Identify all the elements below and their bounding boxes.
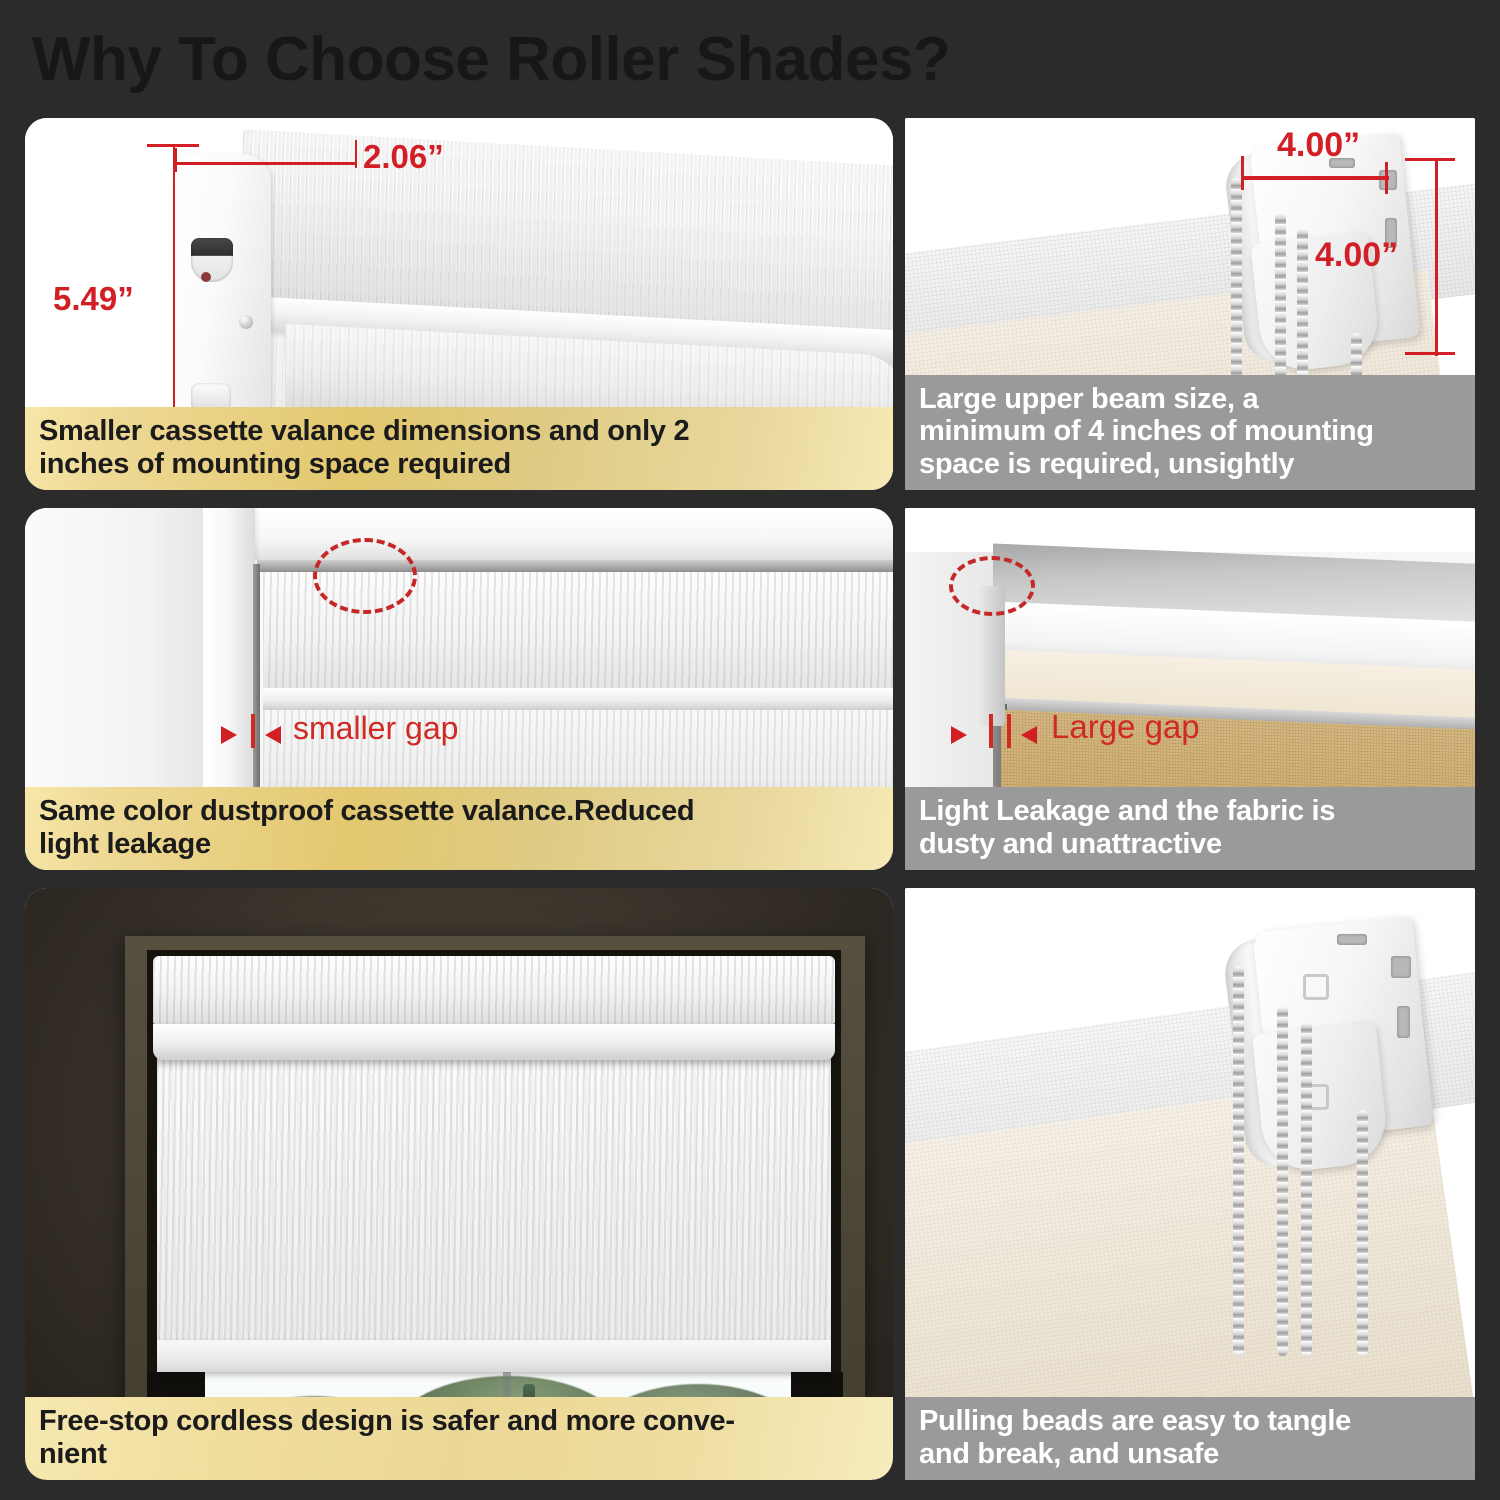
caption-line: nient xyxy=(39,1438,879,1470)
caption-line: Large upper beam size, a xyxy=(919,383,1461,415)
bead-chain xyxy=(1301,1022,1312,1356)
highlight-circle-icon xyxy=(949,556,1035,616)
panel-large-beam: 4.00” 4.00” Large upper beam size, a min… xyxy=(905,118,1475,490)
beam-width-tick-right xyxy=(1385,162,1388,194)
caption-line: minimum of 4 inches of mounting xyxy=(919,415,1461,447)
page-title: Why To Choose Roller Shades? xyxy=(30,18,1130,96)
infographic-page: Why To Choose Roller Shades? 2.06” 5.49” xyxy=(0,0,1500,1500)
smaller-gap-label: smaller gap xyxy=(293,710,458,747)
beam-height-tick-top xyxy=(1405,158,1455,161)
caption-smaller-gap: Same color dustproof cassette valance.Re… xyxy=(25,787,893,870)
gap-tick xyxy=(1007,714,1011,748)
caption-line: Free-stop cordless design is safer and m… xyxy=(39,1405,879,1437)
gap-arrow-left-icon xyxy=(1021,726,1037,744)
caption-line: space is required, unsightly xyxy=(919,448,1461,480)
height-dim-label: 5.49” xyxy=(53,280,134,318)
gap-arrow-right-icon xyxy=(951,726,967,744)
bead-chain xyxy=(1357,1110,1368,1356)
beam-width-label: 4.00” xyxy=(1277,126,1360,165)
width-dim-tick-right xyxy=(355,140,357,168)
beam-height-line xyxy=(1435,160,1438,356)
height-dim-tick-top xyxy=(147,144,199,147)
caption-line: Same color dustproof cassette valance.Re… xyxy=(39,795,879,827)
width-dim-line xyxy=(175,162,357,165)
beam-width-line xyxy=(1241,176,1389,180)
caption-pulling-beads: Pulling beads are easy to tangle and bre… xyxy=(905,1397,1475,1480)
beam-width-tick-left xyxy=(1241,156,1244,190)
panel-smaller-gap: smaller gap Same color dustproof cassett… xyxy=(25,508,893,870)
highlight-circle-icon xyxy=(313,538,417,614)
large-gap-label: Large gap xyxy=(1051,708,1200,746)
caption-line: Smaller cassette valance dimensions and … xyxy=(39,415,879,447)
panel-light-leakage: Large gap Light Leakage and the fabric i… xyxy=(905,508,1475,870)
gap-tick xyxy=(251,714,255,748)
caption-cordless-design: Free-stop cordless design is safer and m… xyxy=(25,1397,893,1480)
panel-cassette-dimensions: 2.06” 5.49” Smaller cassette valance dim… xyxy=(25,118,893,490)
caption-line: inches of mounting space required xyxy=(39,448,879,480)
caption-line: Light Leakage and the fabric is xyxy=(919,795,1461,827)
width-dim-tick-left xyxy=(175,148,177,172)
pulling-beads-photo xyxy=(905,888,1475,1480)
gap-arrow-left-icon xyxy=(265,726,281,744)
beam-height-label: 4.00” xyxy=(1315,236,1398,275)
caption-line: light leakage xyxy=(39,828,879,860)
bracket-logo-icon xyxy=(1303,974,1329,1000)
caption-light-leakage: Light Leakage and the fabric is dusty an… xyxy=(905,787,1475,870)
caption-line: and break, and unsafe xyxy=(919,1438,1461,1470)
caption-line: dusty and unattractive xyxy=(919,828,1461,860)
gap-tick xyxy=(989,714,993,748)
bead-chain xyxy=(1277,1006,1288,1356)
bead-chain xyxy=(1233,966,1244,1356)
caption-large-beam: Large upper beam size, a minimum of 4 in… xyxy=(905,375,1475,490)
panel-cordless-design: Free-stop cordless design is safer and m… xyxy=(25,888,893,1480)
width-dim-label: 2.06” xyxy=(363,138,444,176)
panel-pulling-beads: Pulling beads are easy to tangle and bre… xyxy=(905,888,1475,1480)
caption-line: Pulling beads are easy to tangle xyxy=(919,1405,1461,1437)
beam-height-tick-bottom xyxy=(1405,352,1455,355)
cordless-design-photo xyxy=(25,888,893,1480)
gap-arrow-right-icon xyxy=(221,726,237,744)
caption-cassette-dimensions: Smaller cassette valance dimensions and … xyxy=(25,407,893,490)
